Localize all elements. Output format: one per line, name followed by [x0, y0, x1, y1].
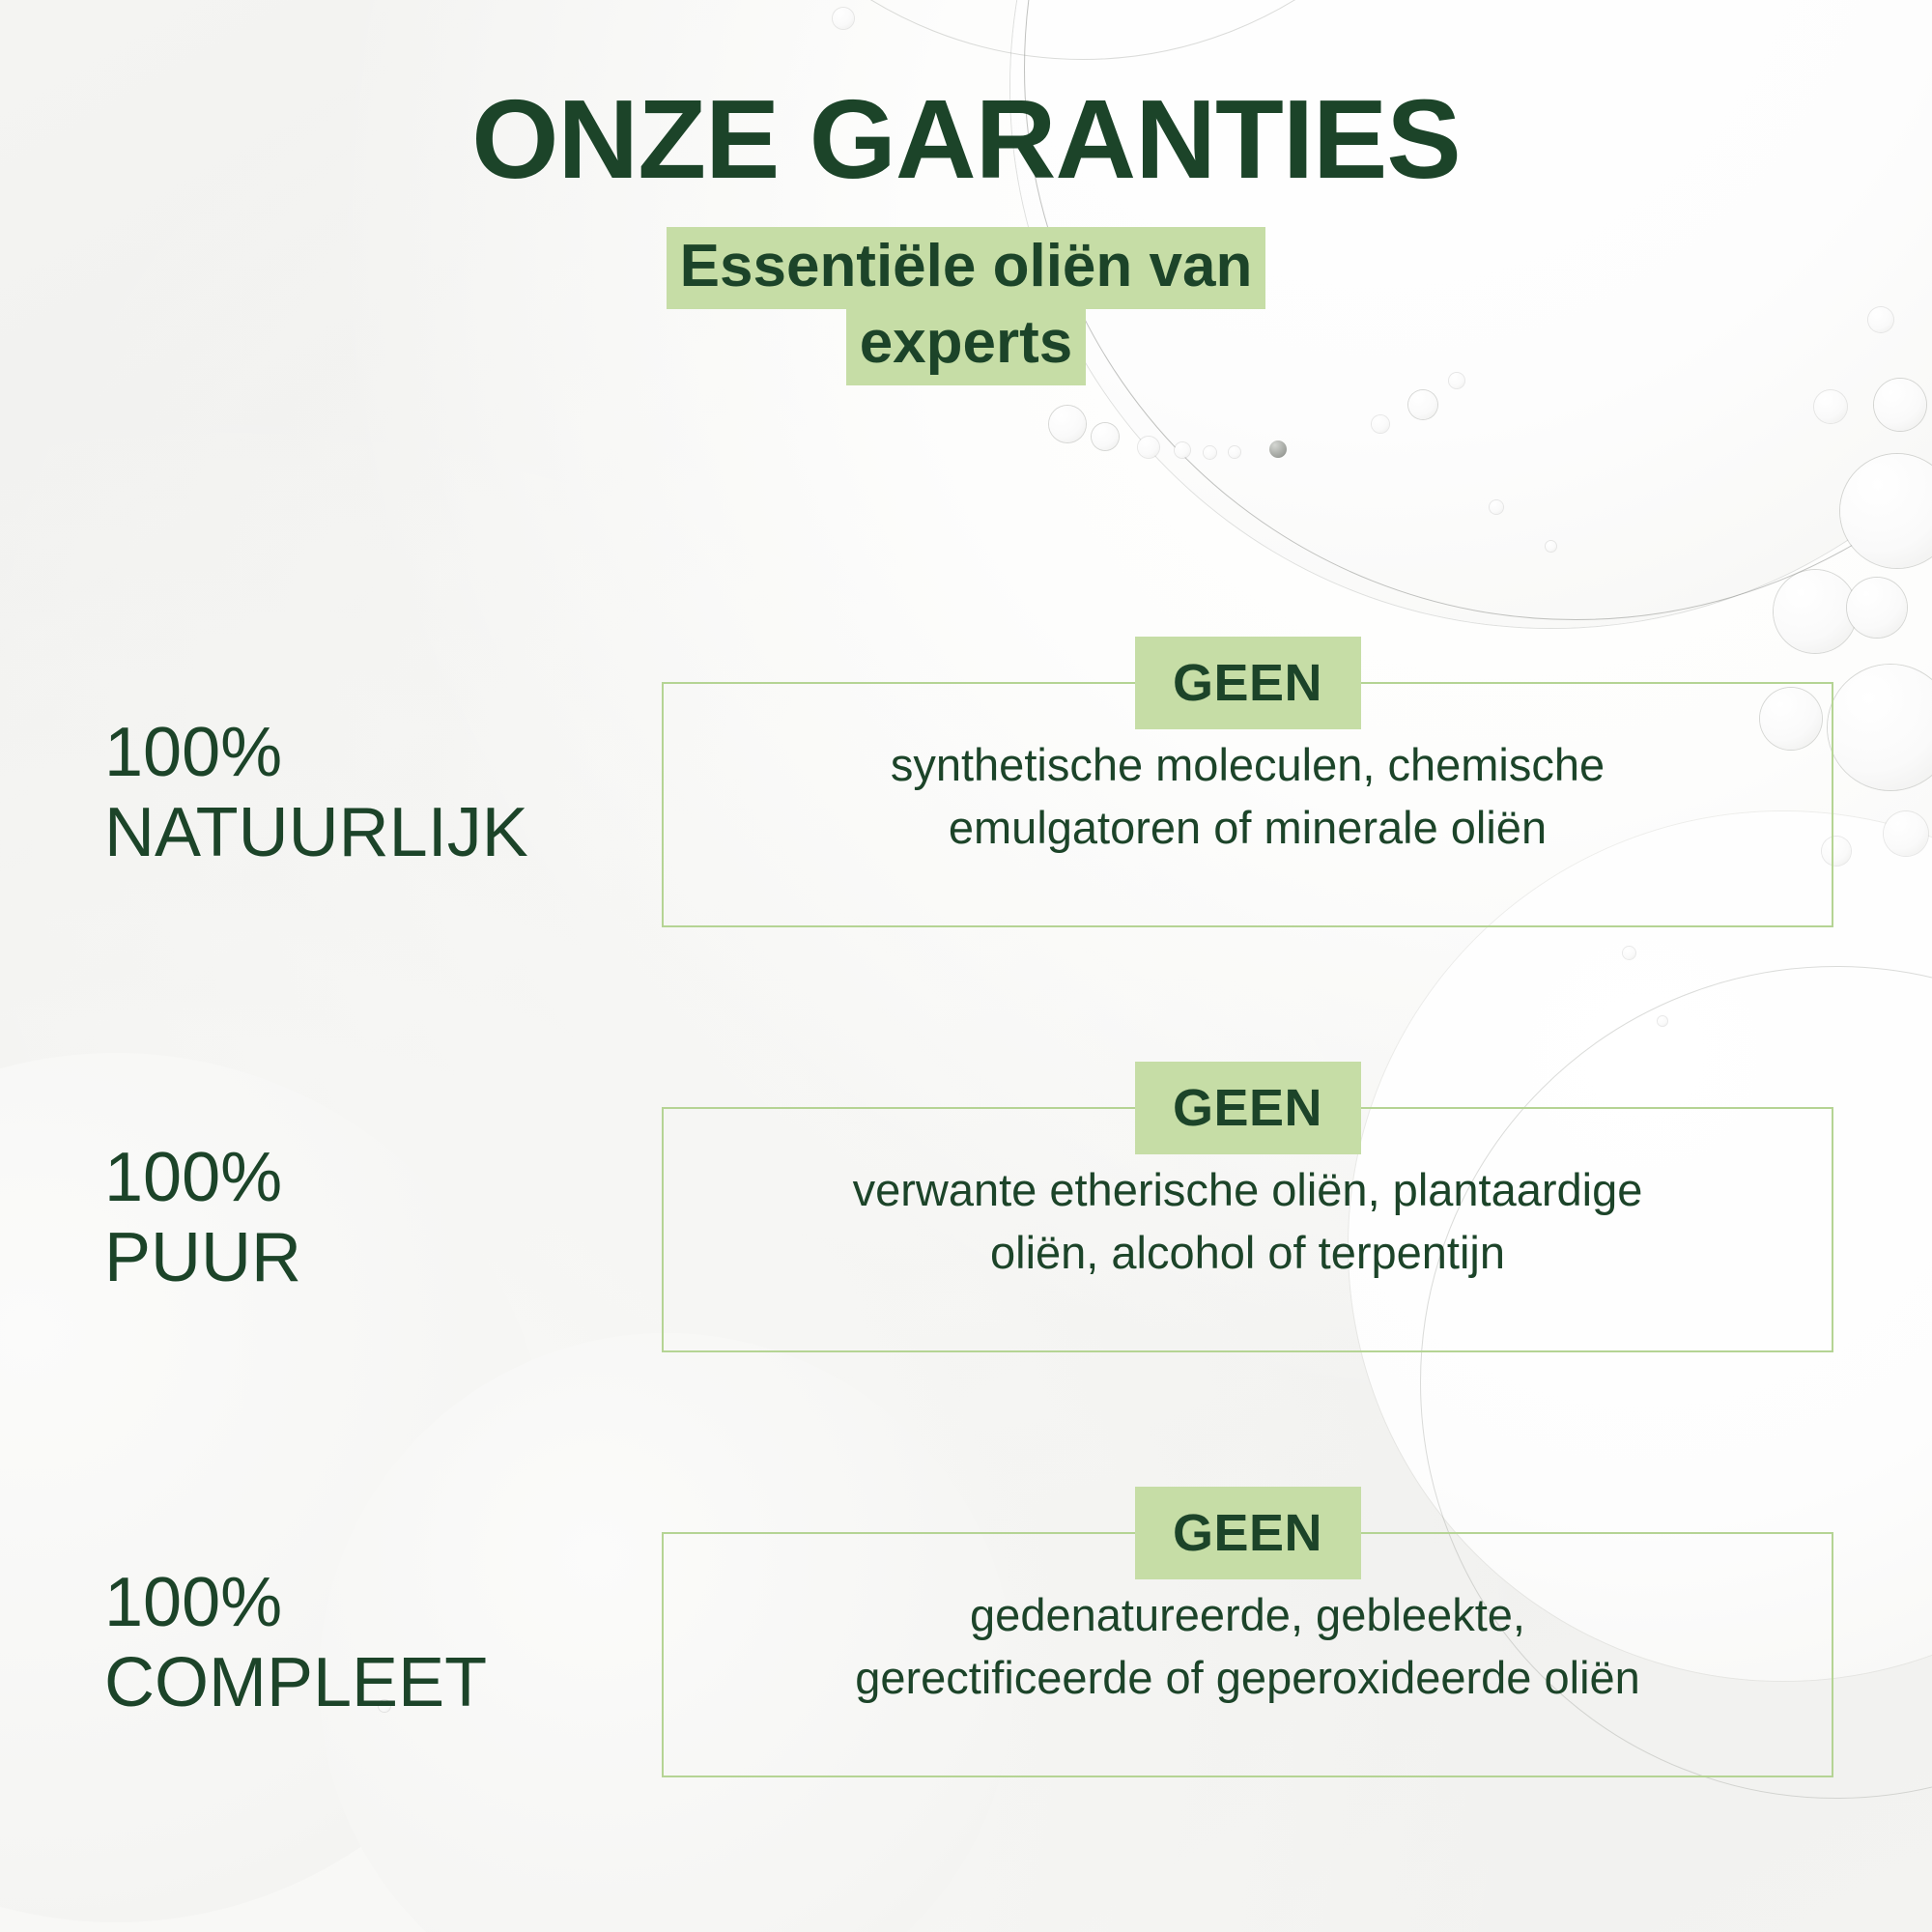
page-title: ONZE GARANTIES — [0, 83, 1932, 195]
guarantee-title: PUUR — [104, 1218, 607, 1298]
description-line-1: verwante etherische oliën, plantaardige — [853, 1164, 1643, 1215]
background-bubble — [1092, 423, 1119, 450]
background-bubble — [1229, 446, 1240, 458]
background-bubble — [1874, 379, 1926, 431]
background-bubble — [1138, 437, 1159, 458]
guarantee-percent: 100% — [104, 1138, 607, 1218]
guarantee-label: 100% NATUURLIJK — [104, 713, 607, 873]
guarantee-row: 100% COMPLEET GEEN gedenatureerde, geble… — [0, 1488, 1932, 1913]
background-bubble — [1546, 541, 1556, 552]
background-bubble — [1814, 390, 1847, 423]
background-bubble — [1847, 578, 1907, 638]
guarantee-list: 100% NATUURLIJK GEEN synthetische molecu… — [0, 638, 1932, 1913]
guarantee-row: 100% NATUURLIJK GEEN synthetische molecu… — [0, 638, 1932, 1063]
description-line-2: oliën, alcohol of terpentijn — [990, 1227, 1505, 1278]
page-subtitle: Essentiële oliën van experts — [618, 228, 1314, 382]
description-line-2: emulgatoren of minerale oliën — [949, 802, 1547, 853]
guarantee-description: verwante etherische oliën, plantaardige … — [664, 1159, 1832, 1285]
background-bubble — [1049, 406, 1086, 442]
geen-badge: GEEN — [1135, 637, 1361, 729]
guarantee-label: 100% COMPLEET — [104, 1563, 607, 1723]
guarantee-description: gedenatureerde, gebleekte, gerectificeer… — [664, 1584, 1832, 1710]
background-bubble — [1408, 390, 1437, 419]
description-line-2: gerectificeerde of geperoxideerde oliën — [855, 1652, 1640, 1703]
guarantee-title: NATUURLIJK — [104, 793, 607, 873]
guarantee-box: GEEN verwante etherische oliën, plantaar… — [662, 1107, 1833, 1352]
guarantee-description: synthetische moleculen, chemische emulga… — [664, 734, 1832, 860]
background-arc-small-top — [676, 0, 1490, 60]
guarantee-percent: 100% — [104, 1563, 607, 1643]
description-line-1: gedenatureerde, gebleekte, — [970, 1589, 1525, 1640]
subtitle-line-2: experts — [846, 303, 1087, 385]
guarantee-percent: 100% — [104, 713, 607, 793]
background-bubble — [1840, 454, 1932, 568]
guarantee-title: COMPLEET — [104, 1643, 607, 1723]
geen-badge: GEEN — [1135, 1062, 1361, 1154]
guarantee-label: 100% PUUR — [104, 1138, 607, 1298]
background-bubble — [1175, 442, 1190, 458]
guarantee-box: GEEN synthetische moleculen, chemische e… — [662, 682, 1833, 927]
description-line-1: synthetische moleculen, chemische — [891, 739, 1605, 790]
geen-badge: GEEN — [1135, 1487, 1361, 1579]
guarantee-row: 100% PUUR GEEN verwante etherische oliën… — [0, 1063, 1932, 1488]
background-bubble — [1372, 415, 1389, 433]
background-bubble — [1490, 500, 1503, 514]
background-bubble — [1204, 446, 1216, 459]
infographic-canvas: ONZE GARANTIES Essentiële oliën van expe… — [0, 0, 1932, 1932]
header: ONZE GARANTIES Essentiële oliën van expe… — [0, 83, 1932, 382]
guarantee-box: GEEN gedenatureerde, gebleekte, gerectif… — [662, 1532, 1833, 1777]
background-bubble-dark — [1269, 440, 1287, 458]
background-bubble — [833, 8, 854, 29]
subtitle-line-1: Essentiële oliën van — [667, 227, 1266, 309]
